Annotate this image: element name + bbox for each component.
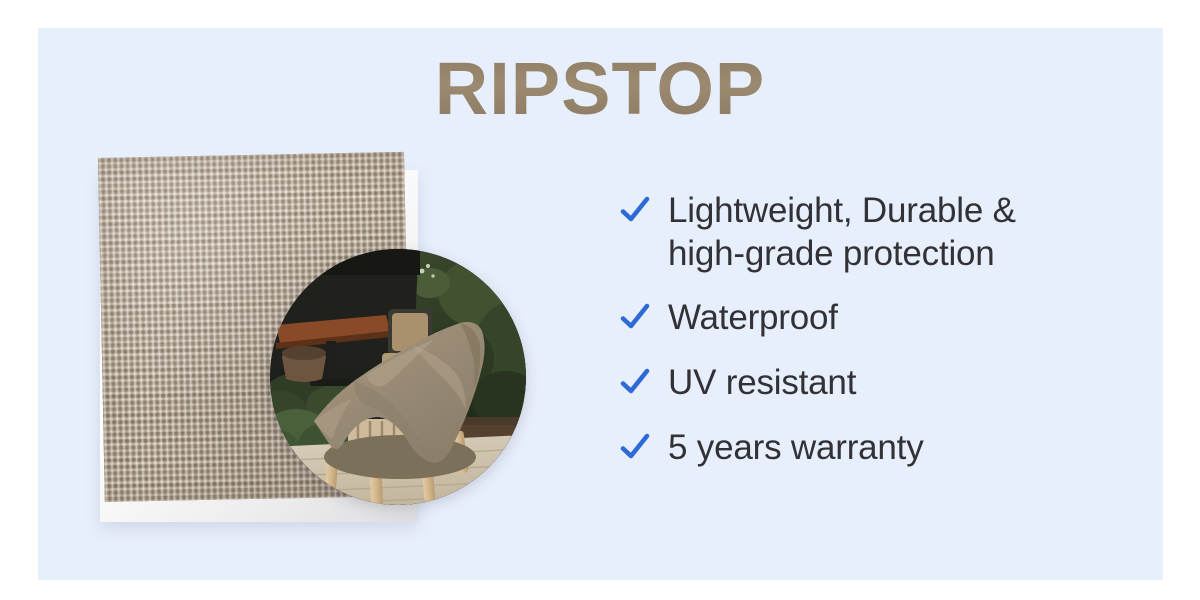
feature-item-lightweight: Lightweight, Durable & high-grade protec… [620, 190, 1120, 275]
check-icon [620, 302, 650, 336]
feature-label: UV resistant [668, 362, 856, 405]
feature-label-line2: high-grade protection [668, 234, 995, 273]
feature-item-warranty: 5 years warranty [620, 427, 1120, 470]
product-visual-group [96, 158, 536, 528]
feature-label-line1: Lightweight, Durable & [668, 191, 1016, 230]
feature-list: Lightweight, Durable & high-grade protec… [620, 190, 1120, 469]
feature-item-waterproof: Waterproof [620, 297, 1120, 340]
lifestyle-photo-circle [270, 249, 526, 505]
page-title: RIPSTOP [0, 52, 1200, 126]
feature-label: Waterproof [668, 297, 838, 340]
patio-chair-cover-photo [270, 249, 526, 505]
check-icon [620, 367, 650, 401]
product-feature-banner: RIPSTOP [0, 0, 1200, 600]
feature-label: 5 years warranty [668, 427, 924, 470]
feature-item-uv-resistant: UV resistant [620, 362, 1120, 405]
feature-label: Lightweight, Durable & high-grade protec… [668, 190, 1016, 275]
check-icon [620, 432, 650, 466]
check-icon [620, 195, 650, 229]
